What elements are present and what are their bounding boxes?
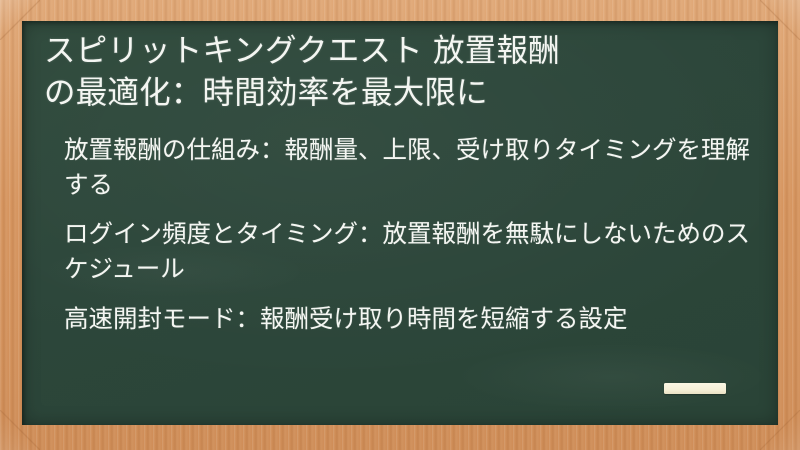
list-item: ログイン頻度とタイミング：放置報酬を無駄にしないためのスケジュール (64, 217, 750, 287)
list-item: 放置報酬の仕組み：報酬量、上限、受け取りタイミングを理解する (64, 133, 750, 203)
wooden-frame: スピリットキングクエスト 放置報酬 の最適化：時間効率を最大限に 放置報酬の仕組… (0, 0, 800, 450)
bullet-list: 放置報酬の仕組み：報酬量、上限、受け取りタイミングを理解する ログイン頻度とタイ… (38, 133, 760, 337)
list-item: 高速開封モード：報酬受け取り時間を短縮する設定 (64, 302, 750, 337)
chalkboard-content: スピリットキングクエスト 放置報酬 の最適化：時間効率を最大限に 放置報酬の仕組… (22, 21, 778, 337)
page-title: スピリットキングクエスト 放置報酬 の最適化：時間効率を最大限に (38, 31, 760, 115)
chalk-stick-icon (664, 383, 726, 394)
chalkboard: スピリットキングクエスト 放置報酬 の最適化：時間効率を最大限に 放置報酬の仕組… (22, 21, 778, 425)
